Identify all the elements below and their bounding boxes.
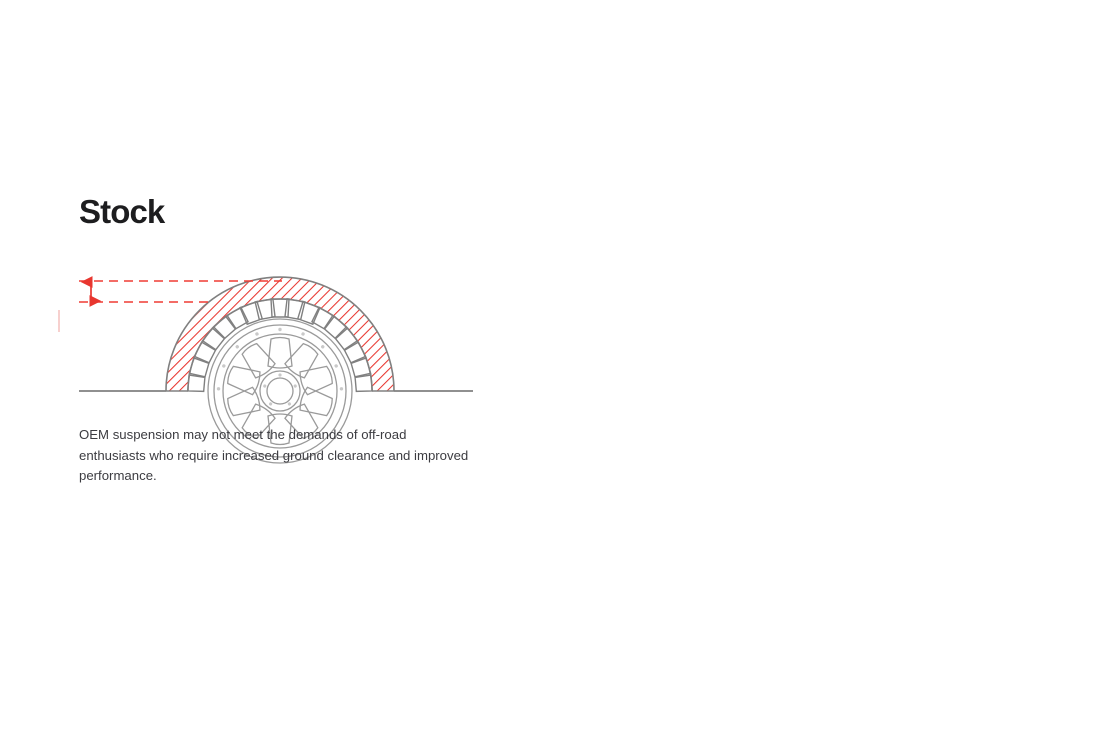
panel-stock: Stock	[0, 0, 548, 731]
stock-wheel-clearance-diagram	[50, 262, 510, 407]
panel-body-stock: OEM suspension may not meet the demands …	[79, 425, 475, 487]
page-title-stock: Stock	[79, 192, 164, 232]
panel-pro-lift-kit: PRO-LIFT-KIT Stage 1	[548, 0, 1096, 731]
comparison-page: Stock	[0, 0, 1096, 731]
